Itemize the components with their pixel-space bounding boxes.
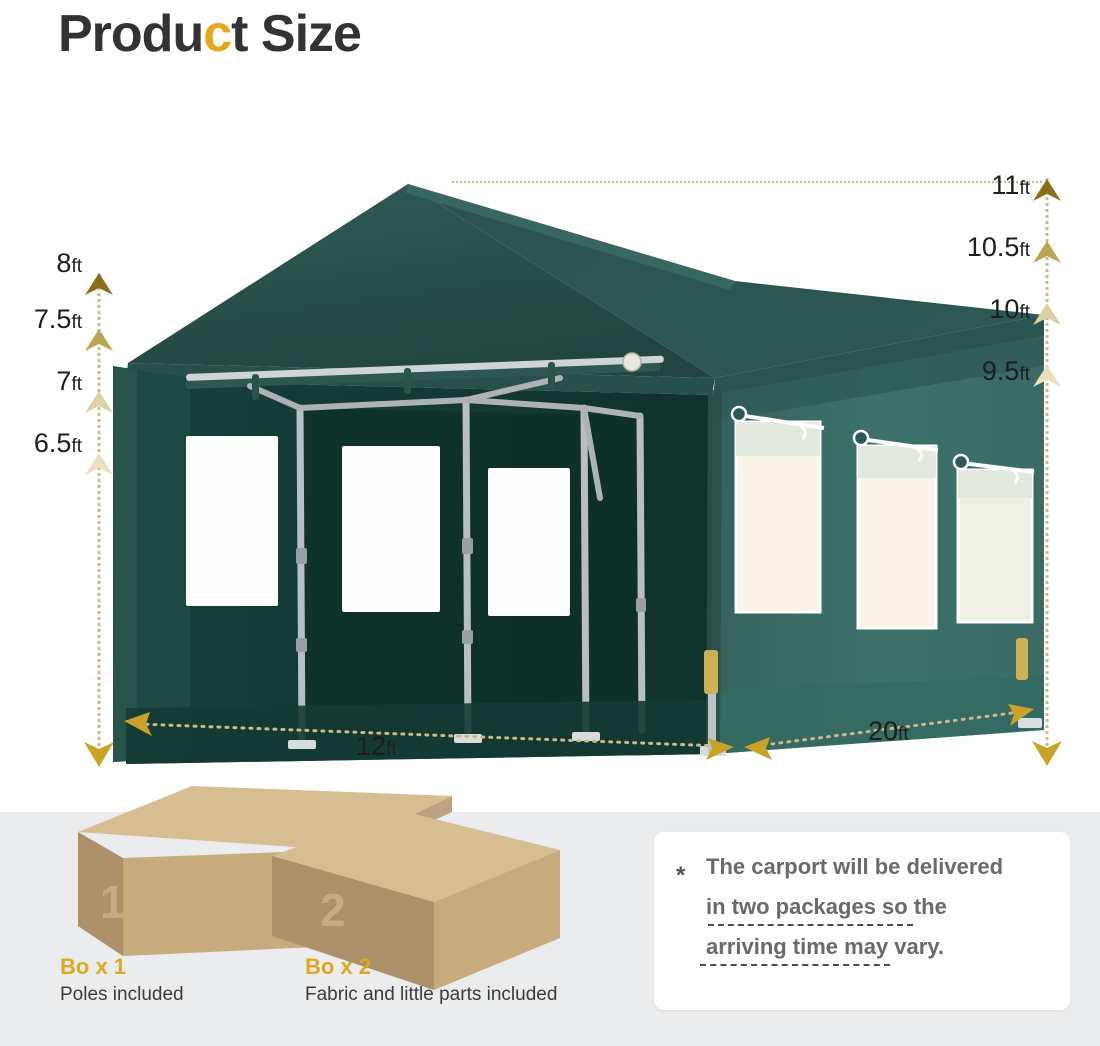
scale-stem: [1046, 178, 1049, 753]
box2-subtitle: Fabric and little parts included: [305, 983, 557, 1008]
delivery-note-lines: The carport will be delivered in two pac…: [706, 856, 1048, 958]
box1-caption: Bo x 1 Poles included: [60, 954, 184, 1008]
width-arrow-right: [706, 738, 734, 760]
label-7-5ft: 7.5ft: [34, 306, 82, 333]
tick-arrow-6-5ft: [84, 452, 114, 476]
side-window-1: [732, 407, 824, 612]
front-height-scale: 8ft 7.5ft 7ft 6.5ft: [84, 274, 114, 758]
box1-title: Bo x 1: [60, 954, 184, 979]
tick-arrow-7ft: [84, 390, 114, 414]
label-11ft: 11ft: [991, 172, 1030, 199]
tick-arrow-9-5ft: [1032, 364, 1062, 388]
page-title: Product Size: [58, 4, 361, 64]
title-part-after: t Size: [231, 5, 361, 63]
title-part-before: Produ: [58, 5, 203, 63]
width-label: 12ft: [356, 733, 397, 760]
tick-arrow-10-5ft: [1032, 240, 1062, 264]
note-line-1: The carport will be delivered: [706, 856, 1048, 878]
label-9-5ft: 9.5ft: [982, 358, 1030, 385]
box1-subtitle: Poles included: [60, 983, 184, 1008]
box1-number: 1: [100, 876, 126, 928]
asterisk-bullet-icon: *: [676, 864, 685, 888]
side-window-2: [854, 431, 938, 628]
label-6-5ft: 6.5ft: [34, 430, 82, 457]
tick-arrow-8ft: [84, 272, 114, 296]
box2-number: 2: [320, 884, 346, 936]
label-7ft: 7ft: [56, 368, 82, 395]
depth-label: 20ft: [868, 718, 909, 745]
product-illustration: 8ft 7.5ft 7ft 6.5ft 11ft: [0, 78, 1100, 812]
packaging-section: 1 2 Bo x 1 Poles included Bo x 2 Fabric …: [0, 812, 1100, 1046]
box2-caption: Bo x 2 Fabric and little parts included: [305, 954, 557, 1008]
width-dim-line: [138, 724, 720, 746]
side-height-scale: 11ft 10.5ft 10ft 9.5ft: [1032, 178, 1062, 753]
bottom-dimension-lines: [100, 690, 1060, 790]
label-8ft: 8ft: [56, 250, 82, 277]
tick-arrow-11ft: [1032, 178, 1062, 202]
label-10ft: 10ft: [989, 296, 1030, 323]
depth-arrow-left: [744, 737, 772, 760]
delivery-note-card: * The carport will be delivered in two p…: [654, 832, 1070, 1010]
tick-arrow-10ft: [1032, 302, 1062, 326]
label-10-5ft: 10.5ft: [967, 234, 1030, 261]
title-accent-letter: c: [203, 5, 231, 63]
side-window-3: [954, 455, 1034, 622]
depth-arrow-right: [1008, 704, 1034, 726]
note-line-2: in two packages so the: [706, 896, 1048, 918]
pipe-endcap: [623, 353, 641, 371]
front-window-2: [342, 446, 440, 612]
tick-arrow-7-5ft: [84, 328, 114, 352]
note-line-3: arriving time may vary.: [706, 936, 1048, 958]
box2-title: Bo x 2: [305, 954, 557, 979]
front-window-3: [488, 468, 570, 616]
front-window-1: [186, 436, 278, 606]
